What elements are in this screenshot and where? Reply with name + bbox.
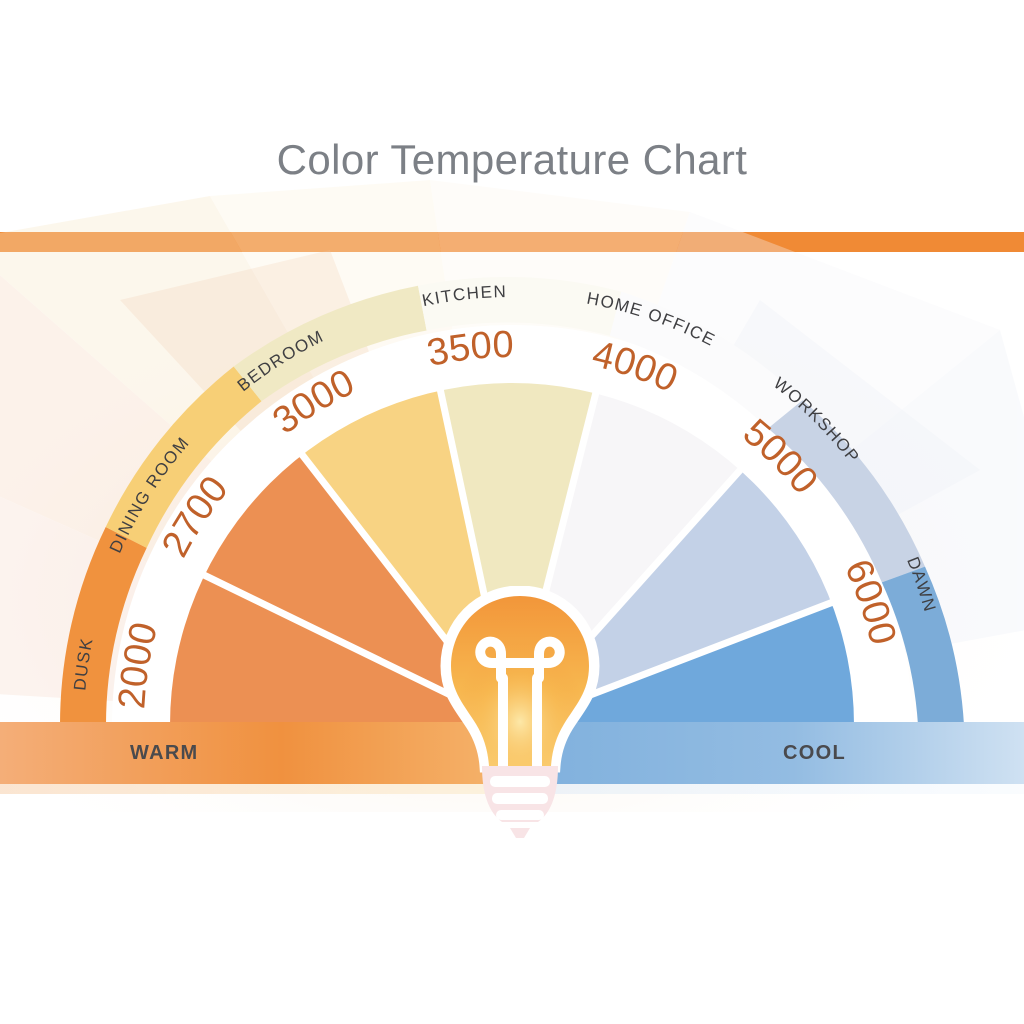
infographic-page: Color Temperature Chart — [0, 0, 1024, 1024]
bulb-inner-glow — [451, 596, 589, 766]
bulb-tip — [510, 828, 530, 838]
bulb-base-threads — [490, 776, 550, 820]
light-bulb-icon — [430, 586, 610, 866]
color-temperature-gauge: 2000 2700 3000 3500 4000 5000 6000 — [0, 0, 1024, 1024]
warm-label: WARM — [130, 742, 199, 765]
cool-label: COOL — [783, 742, 846, 765]
